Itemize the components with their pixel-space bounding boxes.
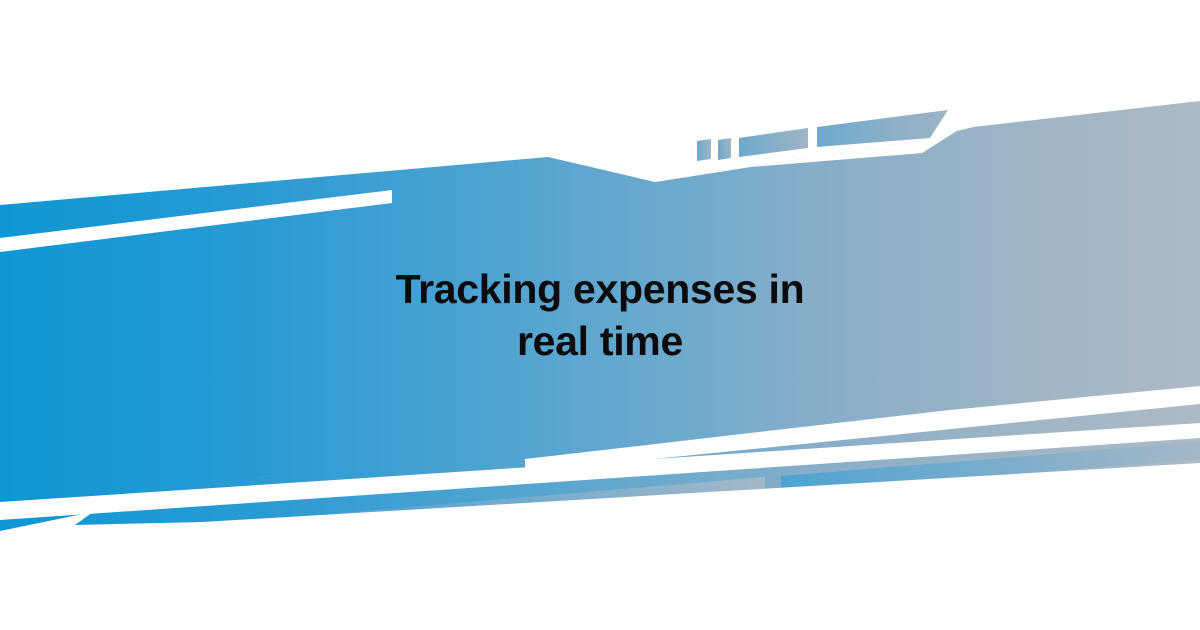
promo-banner: Tracking expenses in real time [0, 0, 1200, 630]
decorative-background-art [0, 0, 1200, 630]
